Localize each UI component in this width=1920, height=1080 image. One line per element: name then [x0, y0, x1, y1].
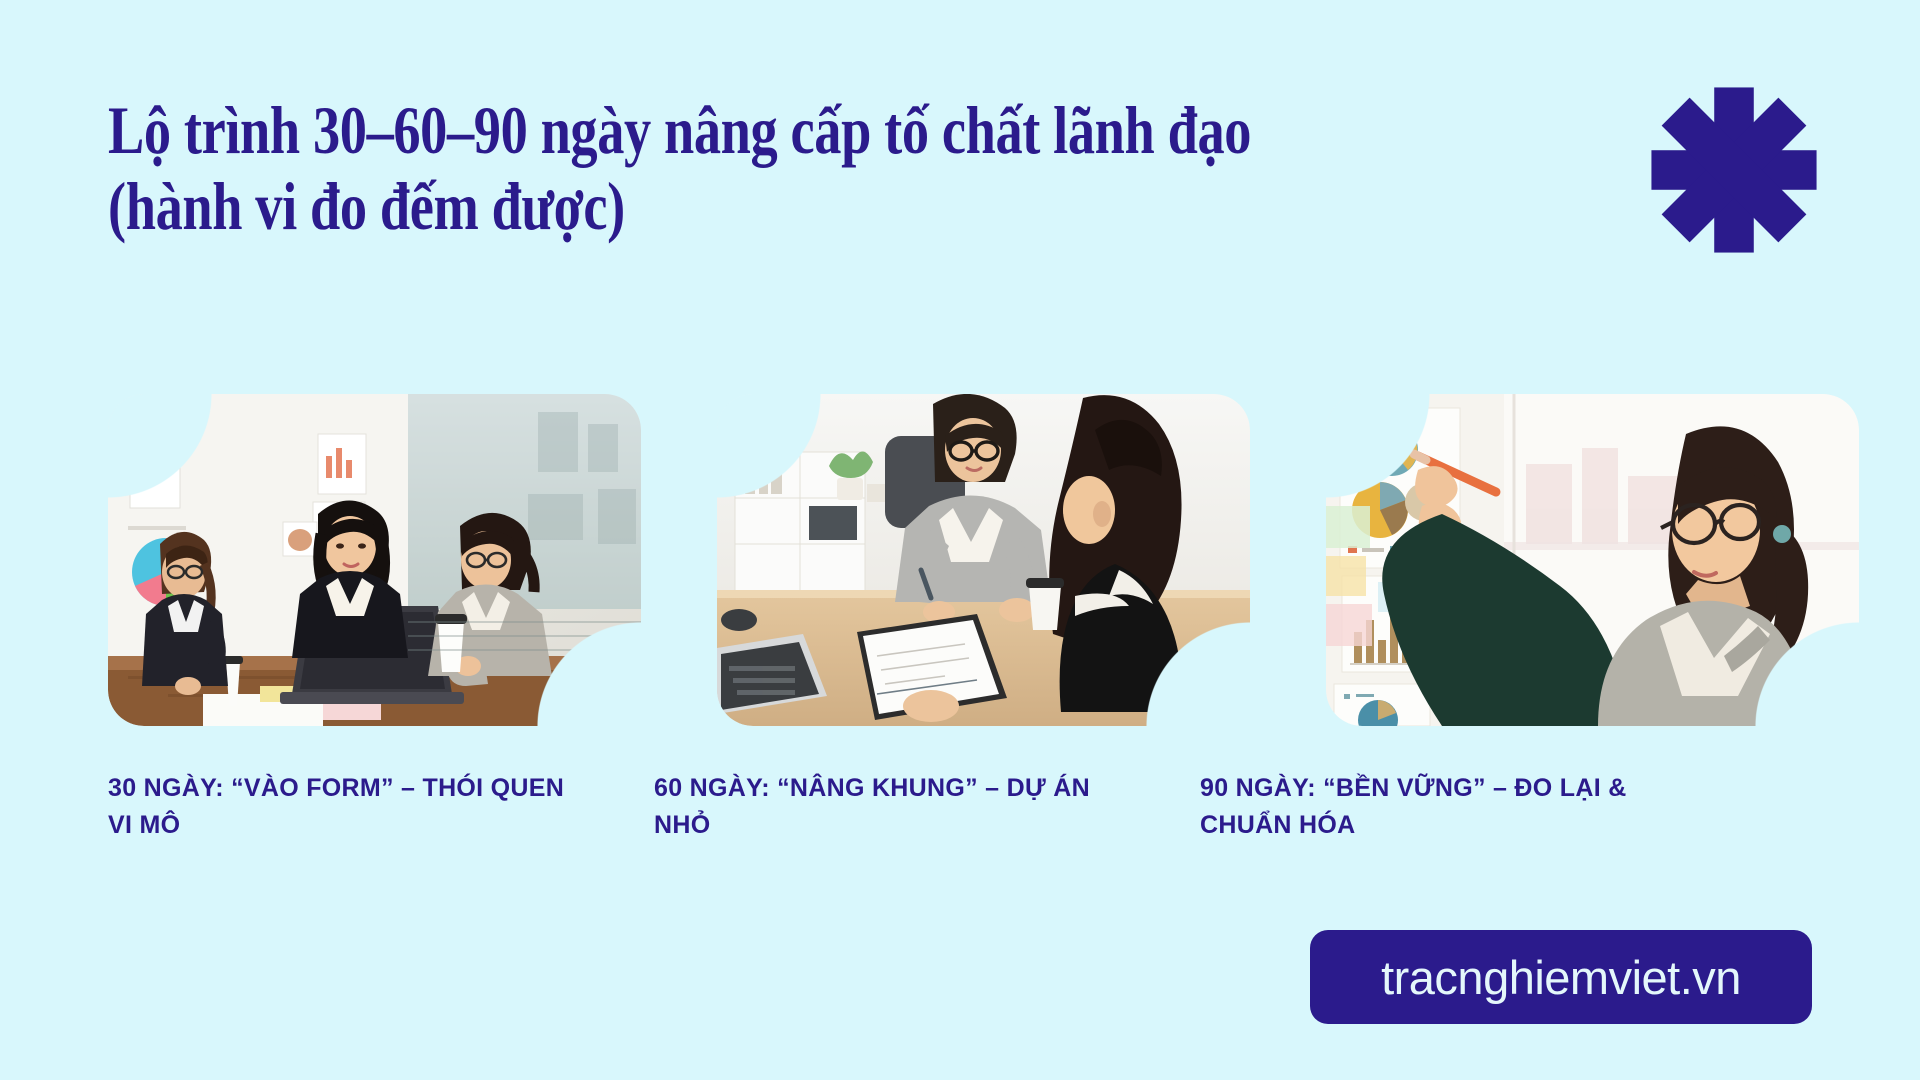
card-caption: 60 NGÀY: “NÂNG KHUNG” – DỰ ÁN NHỎ [654, 770, 1124, 843]
card-caption: 90 NGÀY: “BỀN VỮNG” – ĐO LẠI & CHUẨN HÓA [1200, 770, 1670, 843]
asterisk-icon [1648, 84, 1820, 256]
page-title-block: Lộ trình 30–60–90 ngày nâng cấp tố chất … [108, 92, 1608, 244]
caption-row: 30 NGÀY: “VÀO FORM” – THÓI QUEN VI MÔ 60… [108, 770, 1858, 843]
image-card-row [108, 394, 1858, 726]
card-caption: 30 NGÀY: “VÀO FORM” – THÓI QUEN VI MÔ [108, 770, 578, 843]
image-card[interactable] [717, 394, 1250, 726]
page-title: Lộ trình 30–60–90 ngày nâng cấp tố chất … [108, 92, 1308, 244]
website-badge[interactable]: tracnghiemviet.vn [1310, 930, 1812, 1024]
image-card[interactable] [1326, 394, 1859, 726]
card-photo-2 [717, 394, 1250, 726]
image-card[interactable] [108, 394, 641, 726]
card-photo-3 [1326, 394, 1859, 726]
website-badge-label: tracnghiemviet.vn [1381, 950, 1741, 1005]
card-photo-1 [108, 394, 641, 726]
